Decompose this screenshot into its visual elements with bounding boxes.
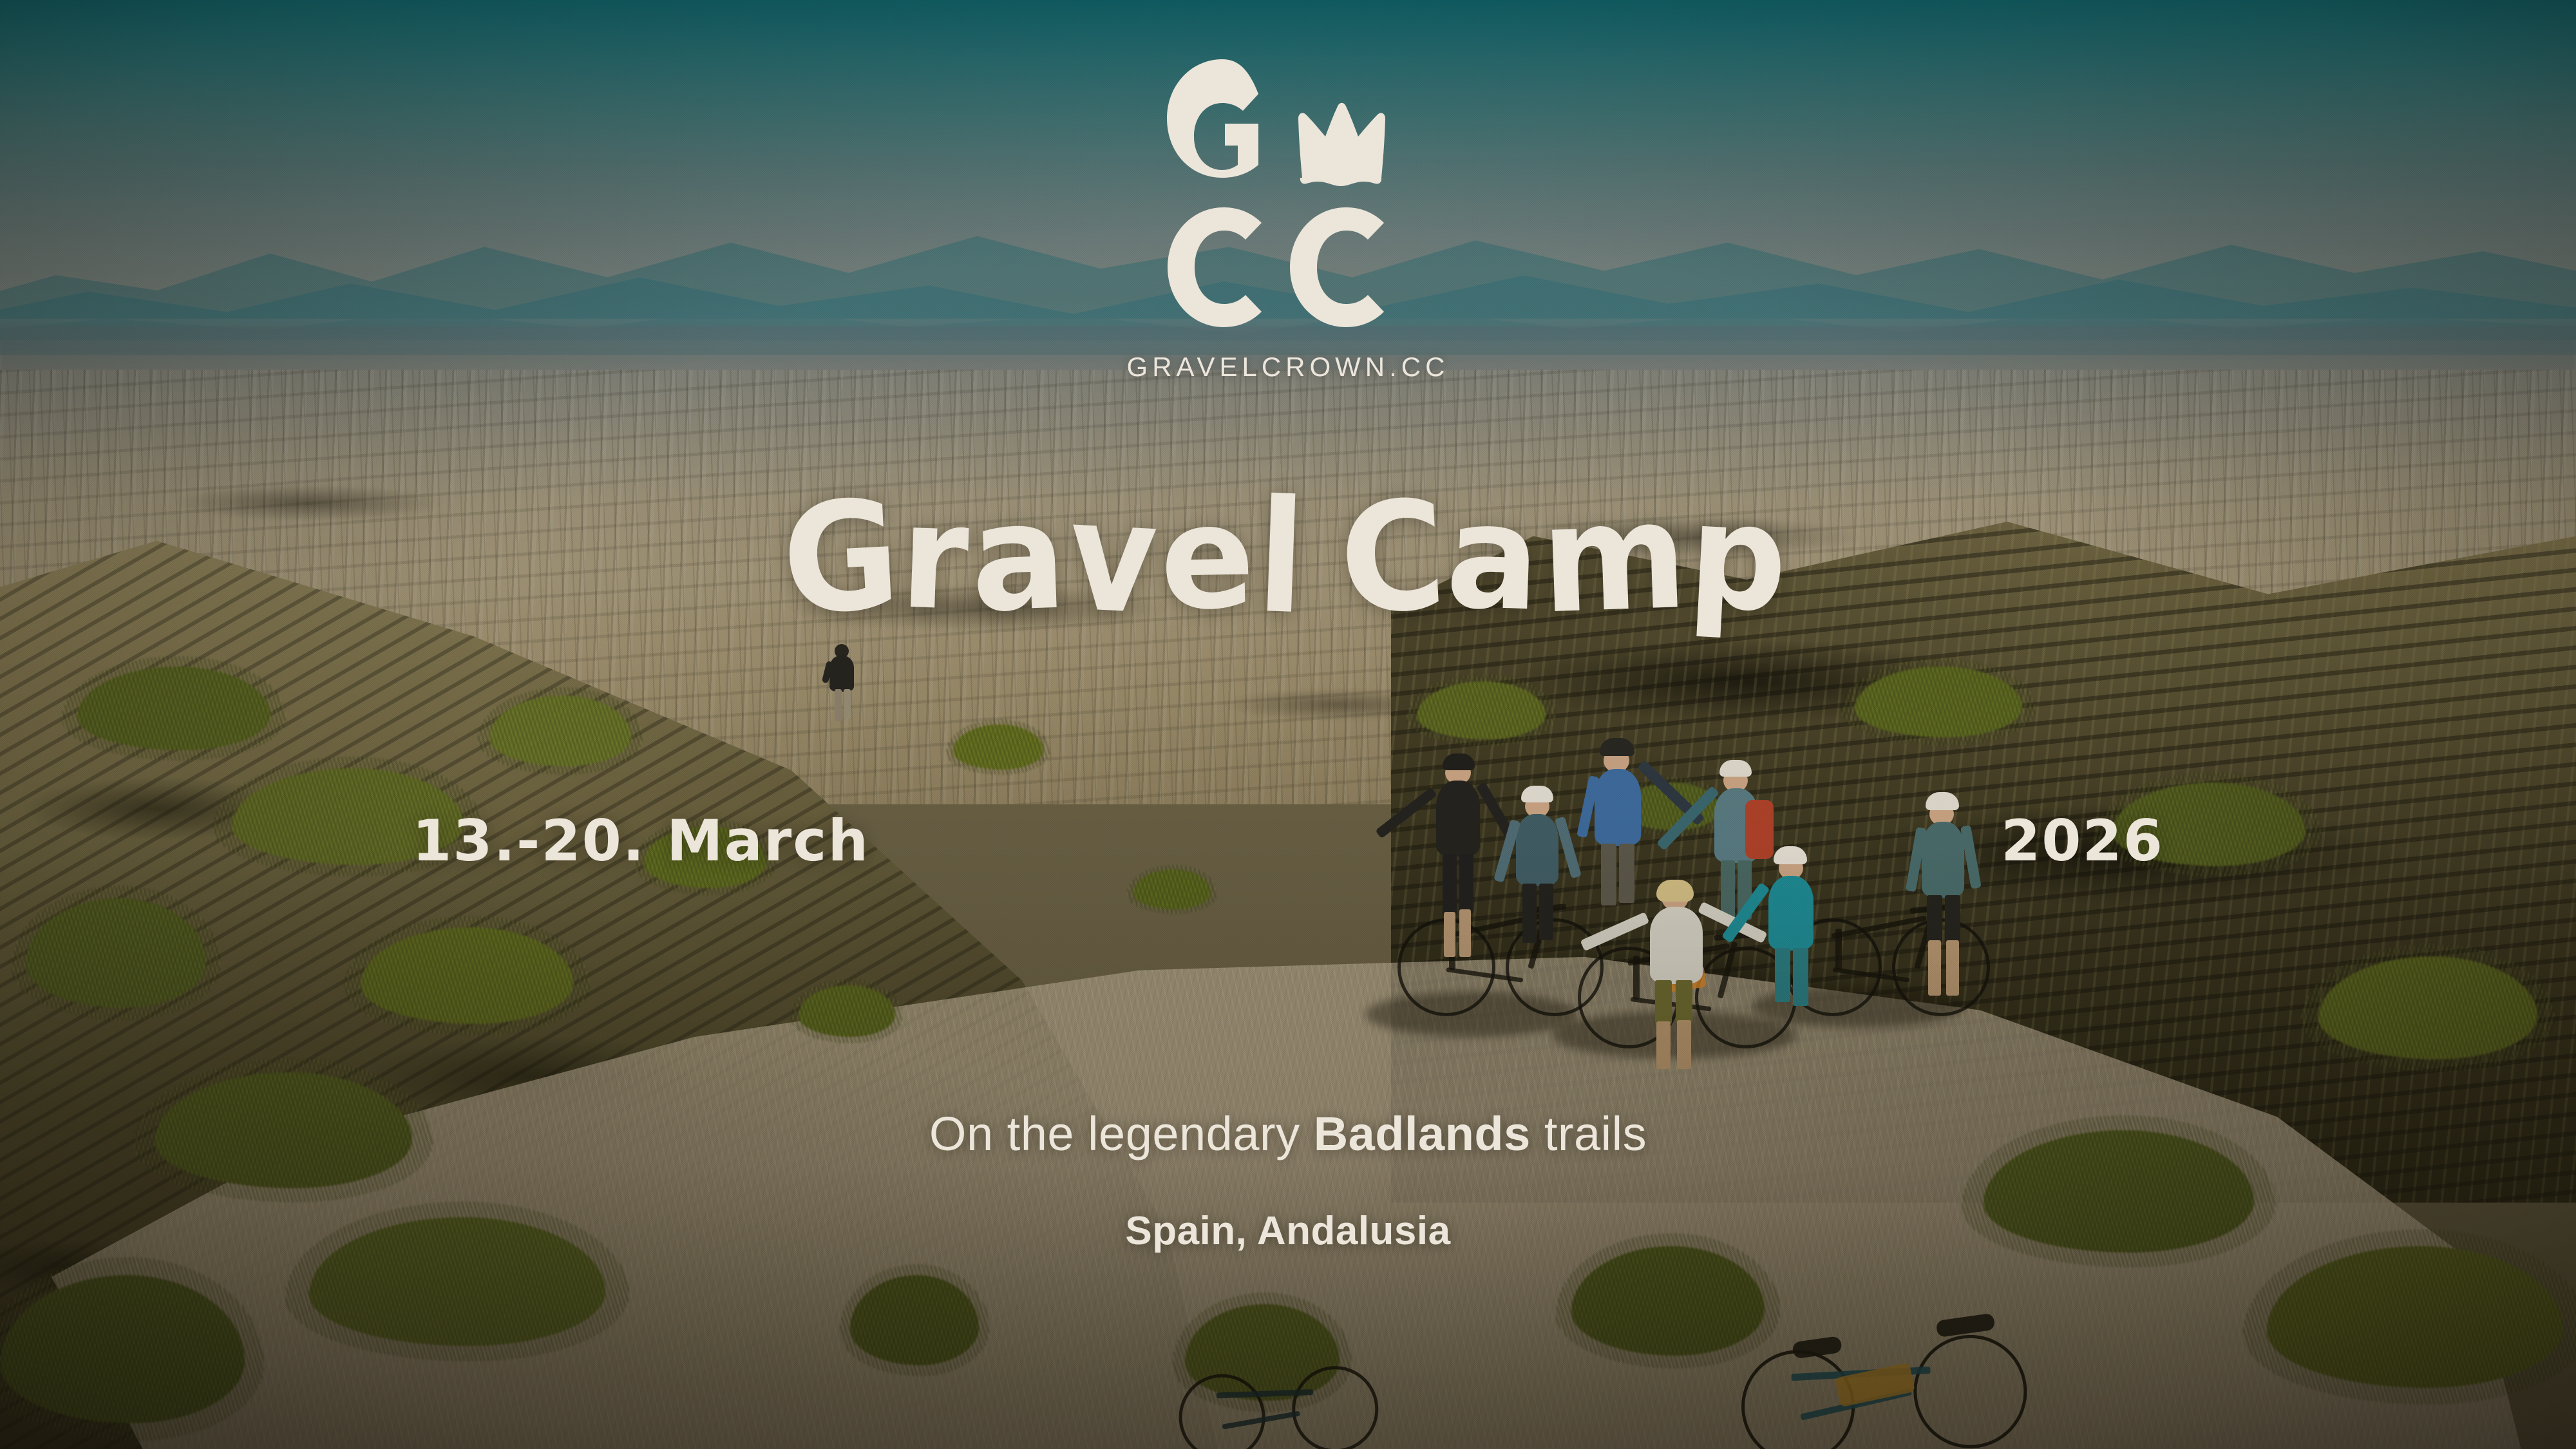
poster-canvas: GRAVELCROWN.CC GravelCamp 13.-20. March …: [0, 0, 2576, 1449]
event-location: Spain, Andalusia: [0, 1208, 2576, 1254]
gcc-crown-logo: [1153, 46, 1423, 343]
hero-date-row: 13.-20. March 2026: [0, 813, 2576, 869]
page-title: GravelCamp: [0, 489, 2576, 626]
brand-lockup[interactable]: GRAVELCROWN.CC: [1043, 46, 1533, 383]
hero-title-row: GravelCamp: [0, 489, 2576, 626]
event-dates: 13.-20. March: [412, 813, 869, 869]
tagline-suffix: trails: [1531, 1107, 1647, 1160]
event-tagline: On the legendary Badlands trails: [0, 1106, 2576, 1161]
tagline-prefix: On the legendary: [929, 1107, 1314, 1160]
brand-url: GRAVELCROWN.CC: [1043, 352, 1533, 383]
tagline-highlight: Badlands: [1314, 1107, 1531, 1160]
event-year: 2026: [2001, 813, 2164, 869]
text-overlay: GRAVELCROWN.CC GravelCamp 13.-20. March …: [0, 0, 2576, 1449]
